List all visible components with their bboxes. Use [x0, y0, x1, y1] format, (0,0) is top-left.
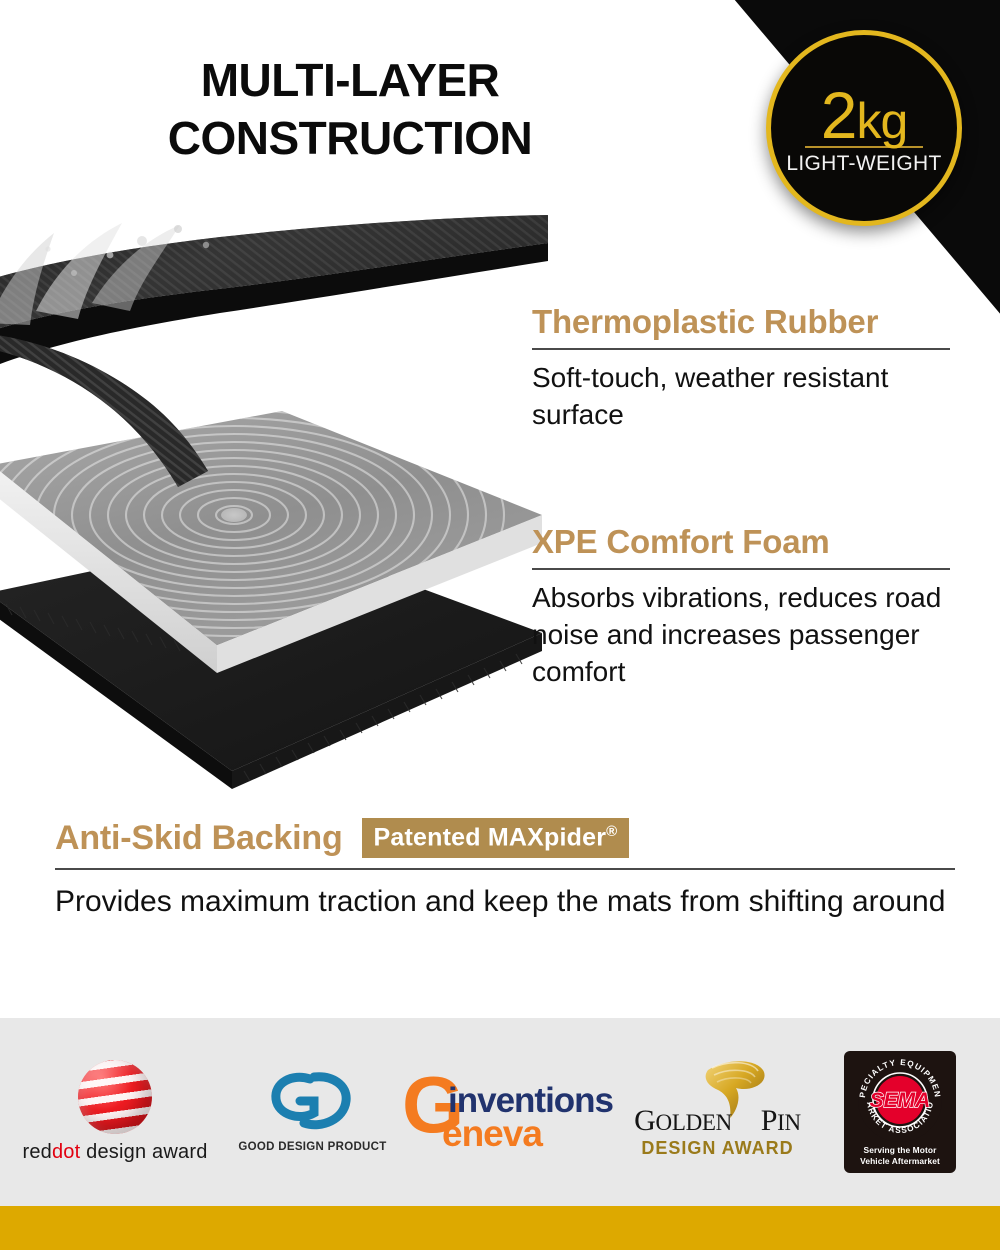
golden-rest: OLDEN	[656, 1110, 732, 1135]
reddot-word-design-award: design award	[80, 1141, 207, 1163]
heading-divider	[532, 348, 950, 350]
sema-caption: Serving the Motor Vehicle Aftermarket	[860, 1145, 940, 1166]
award-logo-sema: SPECIALTY EQUIPMENT MARKET ASSOCIATION S…	[825, 1051, 975, 1173]
awards-band: reddot design award GOOD DESIGN PRODUCT …	[0, 1018, 1000, 1206]
award-logo-good-design-product: GOOD DESIGN PRODUCT	[230, 1071, 395, 1153]
reddot-sphere-icon	[78, 1060, 152, 1134]
layer-description: Soft-touch, weather resistant surface	[532, 359, 952, 433]
sema-badge: SPECIALTY EQUIPMENT MARKET ASSOCIATION S…	[844, 1051, 956, 1173]
reddot-word-dot: dot	[52, 1141, 80, 1163]
award-logo-golden-pin: GOLDEN PIN DESIGN AWARD	[610, 1062, 825, 1162]
layer-info-anti-skid-backing: Anti-Skid Backing Patented MAXpider® Pro…	[55, 818, 955, 921]
inventions-geneva-wordmark: G inventions eneva	[400, 1069, 605, 1155]
layer-info-xpe-comfort-foam: XPE Comfort Foam Absorbs vibrations, red…	[532, 523, 962, 691]
heading-divider	[532, 568, 950, 570]
good-design-caption: GOOD DESIGN PRODUCT	[238, 1141, 386, 1153]
sema-circular-emblem: SPECIALTY EQUIPMENT MARKET ASSOCIATION S…	[856, 1056, 944, 1144]
registered-trademark-symbol: ®	[606, 823, 617, 840]
layer-info-thermoplastic-rubber: Thermoplastic Rubber Soft-touch, weather…	[532, 303, 952, 433]
exploded-product-illustration	[0, 215, 552, 815]
weight-badge-value-row: 2kg	[817, 84, 912, 148]
layer-heading: XPE Comfort Foam	[532, 523, 962, 561]
golden-pin-title: GOLDEN PIN	[618, 1104, 818, 1138]
anti-skid-heading-row: Anti-Skid Backing Patented MAXpider®	[55, 818, 955, 858]
pin-cap-p: P	[761, 1104, 777, 1137]
awards-row: reddot design award GOOD DESIGN PRODUCT …	[0, 1018, 1000, 1206]
patented-maxpider-badge: Patented MAXpider®	[362, 818, 630, 858]
reddot-wordmark: reddot design award	[22, 1141, 207, 1164]
page-title: MULTI-LAYER CONSTRUCTION	[0, 52, 700, 167]
weight-badge-label: LIGHT-WEIGHT	[786, 152, 941, 176]
golden-pin-lockup: GOLDEN PIN DESIGN AWARD	[618, 1062, 818, 1162]
sema-wordmark: SEMA	[870, 1089, 931, 1112]
footer-accent-bar	[0, 1206, 1000, 1250]
weight-badge-value: 2	[821, 78, 857, 152]
sema-caption-line-1: Serving the Motor	[860, 1145, 940, 1156]
layer-description: Absorbs vibrations, reduces road noise a…	[532, 579, 962, 691]
infographic-page: MULTI-LAYER CONSTRUCTION 2kg LIGHT-WEIGH…	[0, 0, 1000, 1250]
layer-heading: Anti-Skid Backing	[55, 819, 343, 858]
gd-monogram-svg	[270, 1071, 356, 1133]
golden-pin-subtitle: DESIGN AWARD	[618, 1138, 818, 1159]
pin-rest: IN	[777, 1110, 801, 1135]
layer-heading: Thermoplastic Rubber	[532, 303, 952, 341]
sema-emblem-svg: SPECIALTY EQUIPMENT MARKET ASSOCIATION S…	[856, 1056, 944, 1144]
sema-caption-line-2: Vehicle Aftermarket	[860, 1156, 940, 1167]
weight-badge: 2kg LIGHT-WEIGHT	[766, 30, 962, 226]
product-layers-svg	[0, 215, 552, 815]
weight-badge-unit: kg	[856, 93, 907, 149]
title-line-2: CONSTRUCTION	[0, 110, 700, 168]
golden-cap-g: G	[634, 1104, 655, 1137]
good-design-monogram-icon	[270, 1071, 356, 1133]
geneva-word: eneva	[442, 1113, 542, 1155]
layer-description: Provides maximum traction and keep the m…	[55, 882, 955, 921]
reddot-word-red: red	[22, 1141, 52, 1163]
award-logo-inventions-geneva: G inventions eneva	[395, 1069, 610, 1155]
award-logo-reddot: reddot design award	[0, 1060, 230, 1164]
patent-badge-text: Patented MAXpider	[374, 823, 607, 851]
heading-divider	[55, 868, 955, 870]
title-line-1: MULTI-LAYER	[201, 54, 500, 106]
